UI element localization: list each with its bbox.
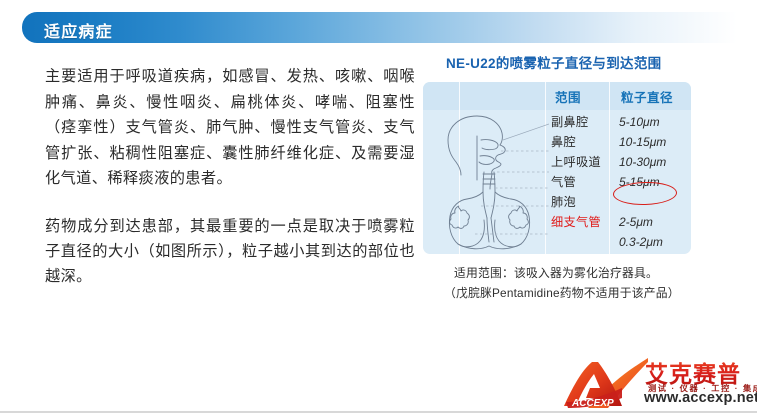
caption-line-1: 适用范围：该吸入器为雾化治疗器具。 — [444, 264, 744, 281]
table-row: 上呼吸道 10-30μm — [423, 152, 691, 172]
caption-line-2: （戊脘脒Pentamidine药物不适用于该产品） — [444, 284, 744, 301]
table-row: 副鼻腔 5-10μm — [423, 112, 691, 132]
table-header-row: 范围 粒子直径 — [423, 82, 691, 110]
paragraph-particle-size: 药物成分到达患部，其最重要的一点是取决于喷雾粒子直径的大小（如图所示），粒子越小… — [45, 214, 415, 289]
column-header-range: 范围 — [555, 87, 581, 106]
panel-title: NE-U22的喷雾粒子直径与到达范围 — [446, 52, 661, 72]
row-value: 10-15μm — [619, 132, 666, 152]
paragraph-indications: 主要适用于呼吸道疾病，如感冒、发热、咳嗽、咽喉肿痛、鼻炎、慢性咽炎、扁桃体炎、哮… — [45, 64, 415, 192]
row-value: 5-10μm — [619, 112, 660, 132]
table-row-highlighted: 细支气管 2-5μm — [423, 212, 691, 232]
panel-caption: 适用范围：该吸入器为雾化治疗器具。 （戊脘脒Pentamidine药物不适用于该… — [444, 264, 744, 301]
row-label: 上呼吸道 — [551, 152, 601, 172]
row-label-highlighted: 细支气管 — [551, 212, 601, 232]
row-value-highlighted: 2-5μm — [619, 212, 653, 232]
table-row: 0.3-2μm — [423, 232, 691, 252]
logo-url[interactable]: www.accexp.net — [644, 390, 757, 406]
left-text-column: 主要适用于呼吸道疾病，如感冒、发热、咳嗽、咽喉肿痛、鼻炎、慢性咽炎、扁桃体炎、哮… — [45, 64, 415, 289]
column-header-diameter: 粒子直径 — [621, 87, 673, 106]
row-label: 气管 — [551, 172, 576, 192]
page-root: 适应病症 主要适用于呼吸道疾病，如感冒、发热、咳嗽、咽喉肿痛、鼻炎、慢性咽炎、扁… — [0, 0, 757, 413]
accexp-mark-text: ACCEXP — [571, 398, 614, 408]
row-label: 肺泡 — [551, 192, 576, 212]
row-label: 副鼻腔 — [551, 112, 588, 132]
page-title: 适应病症 — [44, 18, 113, 42]
section-header-band — [22, 12, 737, 43]
row-value: 10-30μm — [619, 152, 666, 172]
company-logo[interactable]: ACCEXP 艾克赛普 测试 · 仪器 · 工控 · 集成 www.accexp… — [560, 356, 752, 408]
diagram-table-card: 范围 粒子直径 — [423, 82, 691, 254]
table-row: 鼻腔 10-15μm — [423, 132, 691, 152]
row-value: 0.3-2μm — [619, 232, 663, 252]
accexp-mark-icon: ACCEXP — [560, 358, 652, 408]
row-label: 鼻腔 — [551, 132, 576, 152]
